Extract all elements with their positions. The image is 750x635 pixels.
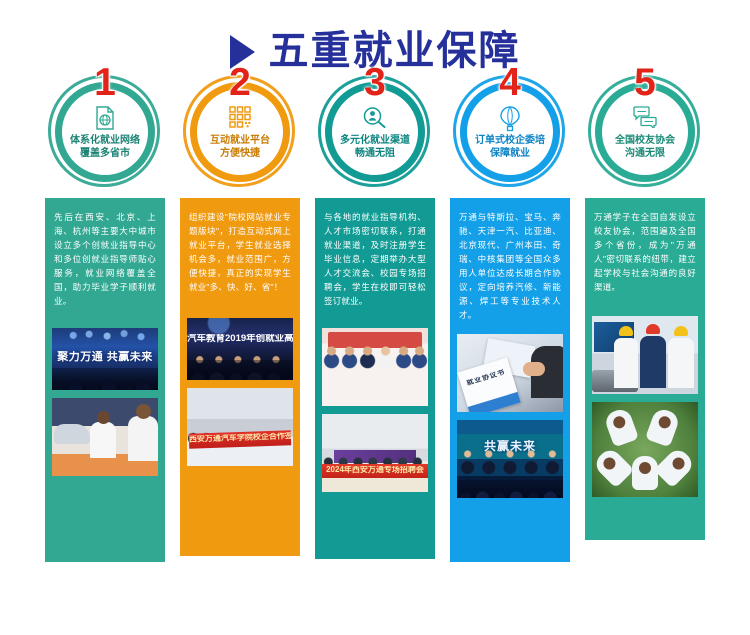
column-2-description: 组织建设"院校网站就业专题版块"，打造互动式网上就业平台，学生就业选择机会多，就… (180, 198, 300, 318)
group-banner-photo-caption: 西安万通汽车学院校企合作签约仪式 (189, 432, 291, 444)
circle-label-1-line1: 体系化就业网络 (70, 135, 140, 146)
circle-label-1-line2: 覆盖多省市 (80, 148, 130, 159)
technician-2 (640, 336, 666, 388)
circle-label-5-line2: 沟通无限 (625, 148, 665, 159)
employment-agreement-photo: 就业协议书 (457, 334, 563, 412)
uniform-team-photo (322, 328, 428, 406)
student-figure (654, 446, 696, 488)
circle-number-3: 3 (315, 63, 435, 102)
feature-circle-1[interactable]: 1 体系化就业网络 覆盖多省市 (45, 72, 165, 184)
executives-heads (457, 448, 563, 460)
column-4-description: 万通与特斯拉、宝马、奔驰、天津一汽、比亚迪、北京现代、广州本田、奇瑞、中核集团等… (450, 198, 570, 334)
circle-number-1: 1 (45, 63, 165, 102)
page-title-row: 五重就业保障 (0, 0, 750, 58)
feature-circle-2[interactable]: 2 互动就业平台 方便快捷 (180, 72, 300, 184)
person-search-icon (315, 106, 435, 132)
advisor-figure (90, 422, 116, 458)
feature-circles-row: 1 体系化就业网络 覆盖多省市 2 (0, 72, 750, 184)
circle-label-4-line2: 保障就业 (490, 148, 530, 159)
job-fair-photo-caption: 2024年西安万通专场招聘会 (322, 466, 428, 475)
content-columns-row: 先后在西安、北京、上海、杭州等主要大中城市设立多个创就业指导中心和多位创就业指导… (0, 198, 750, 562)
hand-figure (531, 346, 563, 398)
circle-label-3-line1: 多元化就业渠道 (340, 135, 410, 146)
customer-figure (128, 416, 158, 461)
circle-label-1: 体系化就业网络 覆盖多省市 (51, 134, 159, 160)
circle-label-3: 多元化就业渠道 畅通无阻 (321, 134, 429, 160)
qr-grid-icon (180, 106, 300, 132)
student-figure (592, 446, 634, 488)
crowd-silhouettes (187, 360, 293, 380)
conference-stage-photo-caption: 聚力万通 共赢未来 (52, 351, 158, 363)
employment-agreement-photo-caption: 就业协议书 (460, 367, 512, 390)
crowd-silhouettes (52, 368, 158, 390)
feature-circle-5[interactable]: 5 全国校友协会 沟通无限 (585, 72, 705, 184)
technician-1 (614, 338, 638, 388)
technicians-photo (592, 316, 698, 394)
team-heads (322, 344, 428, 358)
circle-label-2: 互动就业平台 方便快捷 (186, 134, 294, 160)
feature-circle-4[interactable]: 4 订单式校企委培 保障就业 (450, 72, 570, 184)
forum-stage-photo-caption: 汽车教育2019年创就业高峰论坛 (187, 334, 293, 344)
student-figure (632, 456, 658, 490)
column-5-description: 万通学子在全国自发设立校友协会，范围遍及全国多个省份，成为"万通人"密切联系的纽… (585, 198, 705, 316)
suits-stage-photo: 共赢未来 (457, 420, 563, 498)
car-shape (54, 424, 90, 444)
circle-number-2: 2 (180, 63, 300, 102)
column-3-description: 与各地的就业指导机构、人才市场密切联系，打通就业渠道，及时注册学生毕业信息，定期… (315, 198, 435, 328)
technician-3 (668, 338, 694, 388)
content-column-4: 万通与特斯拉、宝马、奔驰、天津一汽、比亚迪、北京现代、广州本田、奇瑞、中核集团等… (450, 198, 570, 562)
circle-label-4-line1: 订单式校企委培 (475, 135, 545, 146)
content-column-1: 先后在西安、北京、上海、杭州等主要大中城市设立多个创就业指导中心和多位创就业指导… (45, 198, 165, 562)
red-banner: 2024年西安万通专场招聘会 (322, 464, 428, 478)
group-banner-photo: 西安万通汽车学院校企合作签约仪式 (187, 388, 293, 466)
circle-label-5: 全国校友协会 沟通无限 (591, 134, 699, 160)
circle-label-2-line1: 互动就业平台 (210, 135, 270, 146)
forum-stage-photo: 汽车教育2019年创就业高峰论坛 (187, 318, 293, 380)
chat-bubbles-icon (585, 106, 705, 132)
dealership-service-photo (52, 398, 158, 476)
circle-number-5: 5 (585, 63, 705, 102)
feature-circle-3[interactable]: 3 多元化就业渠道 畅通无阻 (315, 72, 435, 184)
content-column-3: 与各地的就业指导机构、人才市场密切联系，打通就业渠道，及时注册学生毕业信息，定期… (315, 198, 435, 559)
student-figure (603, 407, 639, 448)
content-column-2: 组织建设"院校网站就业专题版块"，打造互动式网上就业平台，学生就业选择机会多，就… (180, 198, 300, 556)
document-globe-icon (45, 106, 165, 132)
circle-label-2-line2: 方便快捷 (220, 148, 260, 159)
circle-label-5-line1: 全国校友协会 (615, 135, 675, 146)
students-grass-circle-photo (592, 402, 698, 497)
circle-number-4: 4 (450, 63, 570, 102)
circle-label-3-line2: 畅通无阻 (355, 148, 395, 159)
job-fair-photo: 2024年西安万通专场招聘会 (322, 414, 428, 492)
column-1-description: 先后在西安、北京、上海、杭州等主要大中城市设立多个创就业指导中心和多位创就业指导… (45, 198, 165, 328)
hot-air-balloon-icon (450, 106, 570, 132)
student-figure (645, 407, 681, 448)
circle-label-4: 订单式校企委培 保障就业 (456, 134, 564, 160)
content-column-5: 万通学子在全国自发设立校友协会，范围遍及全国多个省份，成为"万通人"密切联系的纽… (585, 198, 705, 540)
conference-stage-photo: 聚力万通 共赢未来 (52, 328, 158, 390)
audience-silhouettes (457, 480, 563, 498)
